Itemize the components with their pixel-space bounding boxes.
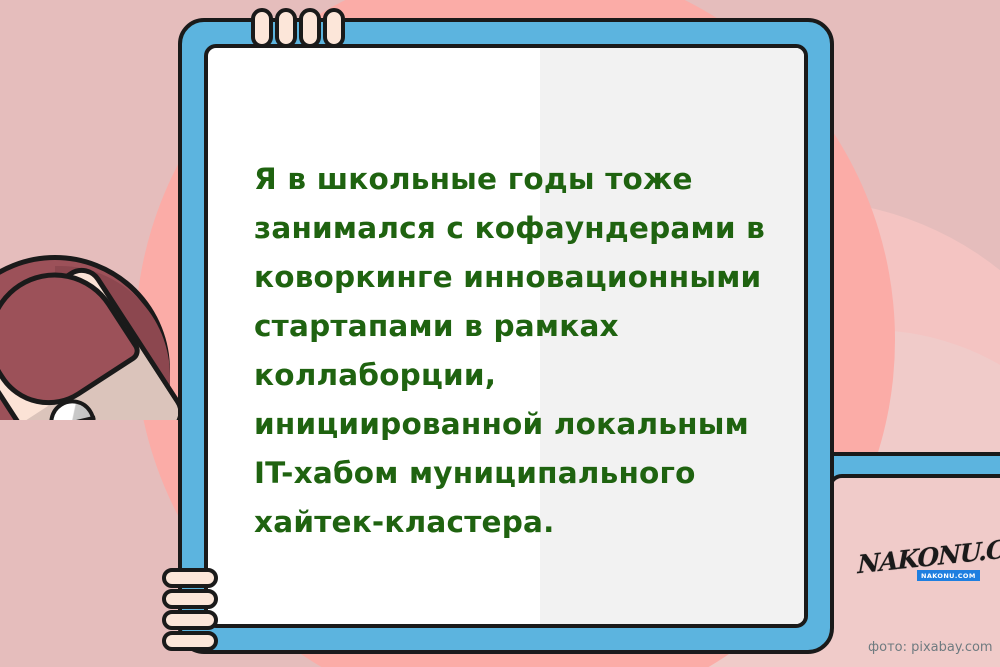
- photo-credit: фото: pixabay.com: [868, 640, 993, 655]
- finger: [162, 610, 218, 630]
- site-watermark-badge: NAKONU.COM: [917, 570, 980, 581]
- finger: [251, 8, 273, 48]
- eyelid-line: [58, 416, 96, 420]
- finger: [162, 631, 218, 651]
- finger: [299, 8, 321, 48]
- sign-board-surface: Я в школьные годы тоже занимался с кофау…: [204, 44, 808, 628]
- site-watermark: NAKONU.COM NAKONU.COM: [857, 540, 987, 584]
- finger: [275, 8, 297, 48]
- joke-card-canvas: Я в школьные годы тоже занимался с кофау…: [0, 0, 1000, 667]
- fingers-top-grip: [251, 8, 345, 48]
- finger: [162, 589, 218, 609]
- sign-board: Я в школьные годы тоже занимался с кофау…: [178, 18, 834, 654]
- finger: [162, 568, 218, 588]
- joke-paragraph-2: В смысле, ходил в кружок юных техников п…: [254, 626, 778, 628]
- joke-text-block: Я в школьные годы тоже занимался с кофау…: [254, 106, 778, 628]
- fingers-left-grip: [162, 568, 218, 651]
- joke-paragraph-1: Я в школьные годы тоже занимался с кофау…: [254, 155, 778, 547]
- finger: [323, 8, 345, 48]
